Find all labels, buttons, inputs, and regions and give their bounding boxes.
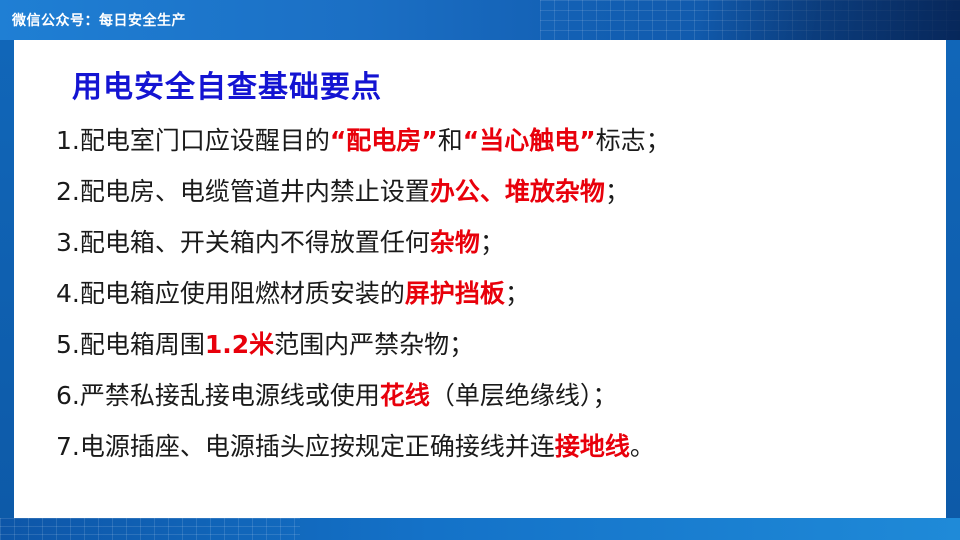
- body-text: 配电室门口应设醒目的: [80, 126, 330, 155]
- body-text: 和: [438, 126, 463, 155]
- highlighted-text: “当心触电”: [463, 126, 596, 155]
- highlighted-text: 屏护挡板: [405, 279, 505, 308]
- list-item-index: 7.: [56, 432, 80, 461]
- list-item: 5.配电箱周围1.2米范围内严禁杂物；: [56, 332, 926, 357]
- bottom-frame-bar: [0, 518, 960, 540]
- body-text: 配电箱、开关箱内不得放置任何: [80, 228, 430, 257]
- points-list: 1.配电室门口应设醒目的“配电房”和“当心触电”标志；2.配电房、电缆管道井内禁…: [56, 128, 926, 485]
- right-frame-bar: [946, 40, 960, 520]
- body-text: ；: [505, 279, 530, 308]
- list-item: 2.配电房、电缆管道井内禁止设置办公、堆放杂物；: [56, 179, 926, 204]
- body-text: ；: [605, 177, 630, 206]
- highlighted-text: 花线: [380, 381, 430, 410]
- top-banner: 微信公众号：每日安全生产: [0, 0, 960, 40]
- banner-shadow-decoration: [700, 0, 960, 40]
- body-text: 范围内严禁杂物；: [274, 330, 474, 359]
- body-text: 配电箱周围: [80, 330, 205, 359]
- list-item-index: 4.: [56, 279, 80, 308]
- body-text: 配电箱应使用阻燃材质安装的: [80, 279, 405, 308]
- body-text: 配电房、电缆管道井内禁止设置: [80, 177, 430, 206]
- list-item-index: 6.: [56, 381, 80, 410]
- list-item-index: 5.: [56, 330, 80, 359]
- list-item-index: 2.: [56, 177, 80, 206]
- slide-canvas: 微信公众号：每日安全生产 用电安全自查基础要点 1.配电室门口应设醒目的“配电房…: [0, 0, 960, 540]
- highlighted-text: “配电房”: [330, 126, 438, 155]
- bottom-grid-decoration: [0, 518, 300, 540]
- highlighted-text: 杂物: [430, 228, 480, 257]
- left-frame-bar: [0, 40, 14, 520]
- body-text: 。: [630, 432, 655, 461]
- body-text: 严禁私接乱接电源线或使用: [80, 381, 380, 410]
- body-text: ；: [480, 228, 505, 257]
- body-text: 电源插座、电源插头应按规定正确接线并连: [80, 432, 555, 461]
- list-item-index: 3.: [56, 228, 80, 257]
- list-item: 7.电源插座、电源插头应按规定正确接线并连接地线。: [56, 434, 926, 459]
- list-item: 6.严禁私接乱接电源线或使用花线（单层绝缘线）；: [56, 383, 926, 408]
- list-item: 1.配电室门口应设醒目的“配电房”和“当心触电”标志；: [56, 128, 926, 153]
- list-item-index: 1.: [56, 126, 80, 155]
- list-item: 3.配电箱、开关箱内不得放置任何杂物；: [56, 230, 926, 255]
- highlighted-text: 1.2米: [205, 330, 274, 359]
- highlighted-text: 办公、堆放杂物: [430, 177, 605, 206]
- body-text: （单层绝缘线）；: [430, 381, 618, 410]
- account-label: 微信公众号：每日安全生产: [12, 10, 186, 30]
- page-title: 用电安全自查基础要点: [72, 62, 382, 106]
- highlighted-text: 接地线: [555, 432, 630, 461]
- body-text: 标志；: [596, 126, 671, 155]
- list-item: 4.配电箱应使用阻燃材质安装的屏护挡板；: [56, 281, 926, 306]
